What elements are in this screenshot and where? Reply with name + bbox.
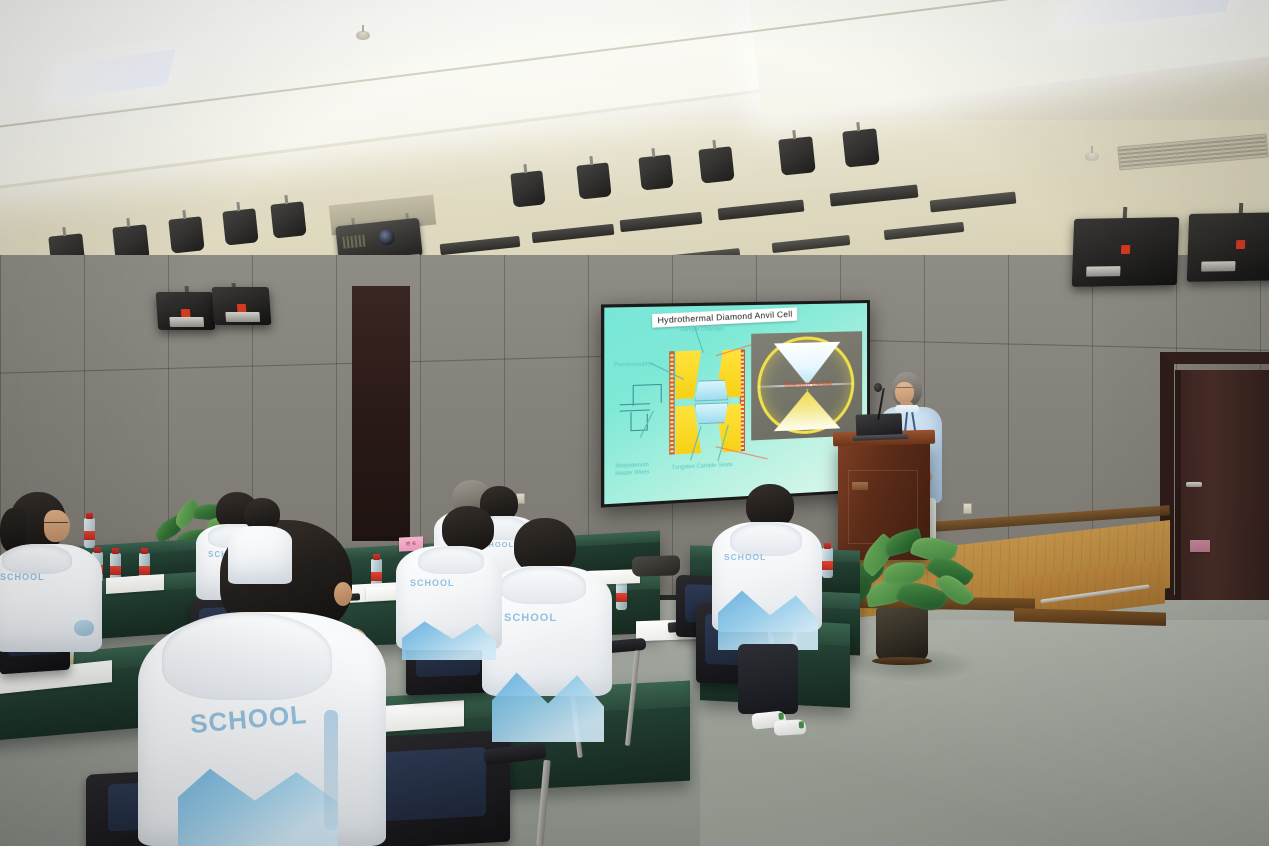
smoke-detector-icon-2: [1085, 152, 1099, 161]
attendee-face-profile: [44, 510, 70, 542]
ceiling-speaker: [222, 208, 258, 245]
attendee-hand: [74, 620, 94, 636]
diamond-anvil-photo: Rhenium Gasket: [751, 331, 862, 440]
ceiling-speaker: [168, 216, 204, 253]
hoodie-logo-text: SCHOOL: [724, 552, 766, 562]
ceiling-speaker: [842, 128, 880, 167]
name-card: [1190, 540, 1210, 552]
attendee-back-far-left: [228, 498, 292, 584]
hoodie-hood: [730, 522, 802, 556]
presenter-face: [895, 382, 914, 404]
hoodie-sleeve-text: [324, 710, 338, 830]
wall-outlet[interactable]: [963, 503, 972, 514]
microphone-icon[interactable]: [874, 383, 882, 392]
ceiling-speaker: [778, 136, 816, 175]
label-thermocouples: Thermocouples: [613, 361, 653, 369]
hoodie-hood: [2, 544, 72, 574]
hoodie-logo-text: SCHOOL: [410, 578, 455, 588]
thermocouple-circuit-diagram: [620, 382, 663, 436]
attendee-right-near-stage: SCHOOL: [712, 484, 822, 754]
bottle-label: [822, 561, 833, 570]
ceiling-speaker: [510, 170, 545, 207]
plant-leaf: [883, 561, 924, 586]
hoodie-hood: [418, 546, 484, 574]
presentation-slide: Hydrothermal Diamond Anvil Cell: [604, 303, 867, 504]
label-tungsten-carbide-seats: Tungsten Carbide Seats: [671, 462, 732, 472]
diamond-anvil-core: [695, 380, 729, 425]
jbl-logo-icon: [1121, 245, 1130, 254]
speaker-label-plate: [169, 317, 204, 327]
diamond-upper: [695, 380, 729, 402]
water-bottle[interactable]: [616, 580, 627, 610]
heater-wire-column-left: [669, 351, 674, 454]
hoodie-logo-text: SCHOOL: [0, 572, 45, 582]
ceiling-speaker: [638, 154, 673, 190]
speaker-label-plate: [1201, 261, 1235, 272]
hoodie-logo-text: SCHOOL: [504, 612, 557, 624]
jbl-logo-icon: [1236, 240, 1245, 249]
wall-speaker-right-1: [1072, 217, 1180, 287]
wall-speaker-right-2: [1187, 212, 1269, 282]
attendee-mid-left: SCHOOL: [396, 506, 506, 656]
label-sample-chamber: Sample Chamber: [680, 326, 724, 334]
ceiling-speaker: [270, 201, 306, 238]
hoodie-hood: [162, 612, 332, 700]
wall-dark-column: [352, 286, 410, 541]
projector-lens: [378, 228, 396, 246]
wall-speaker-left-2: [212, 287, 272, 325]
attendee-front-left-woman: SCHOOL: [0, 492, 114, 672]
exit-door[interactable]: [1175, 370, 1269, 625]
podium-emblem: [852, 482, 868, 490]
projection-screen: Hydrothermal Diamond Anvil Cell: [601, 300, 870, 508]
ceiling-speaker: [698, 146, 734, 183]
water-bottle[interactable]: [822, 548, 833, 578]
label-molybdenum-line2: Heater Wires: [615, 469, 649, 477]
hoodie-hood: [500, 566, 586, 604]
attendee-ear: [334, 582, 352, 606]
conference-room-photo: Hydrothermal Diamond Anvil Cell: [0, 0, 1269, 846]
attendee-hoodie: [228, 526, 292, 584]
door-handle[interactable]: [1186, 482, 1202, 487]
attendee-glasses-icon: [44, 522, 68, 525]
smoke-detector-icon: [356, 31, 370, 40]
presenter-glasses-icon: [896, 387, 913, 390]
slide-title: Hydrothermal Diamond Anvil Cell: [652, 307, 798, 327]
speaker-label-plate: [1086, 266, 1120, 277]
sneaker: [774, 719, 807, 736]
diamond-lower: [695, 402, 729, 424]
camera-bag[interactable]: [632, 555, 680, 577]
speaker-label-plate: [225, 312, 260, 322]
bottle-label: [616, 593, 627, 602]
attendee-legs: [738, 644, 798, 714]
projector-vent: [342, 235, 365, 249]
wall-speaker-left-1: [156, 292, 216, 330]
ceiling-speaker: [576, 162, 611, 199]
